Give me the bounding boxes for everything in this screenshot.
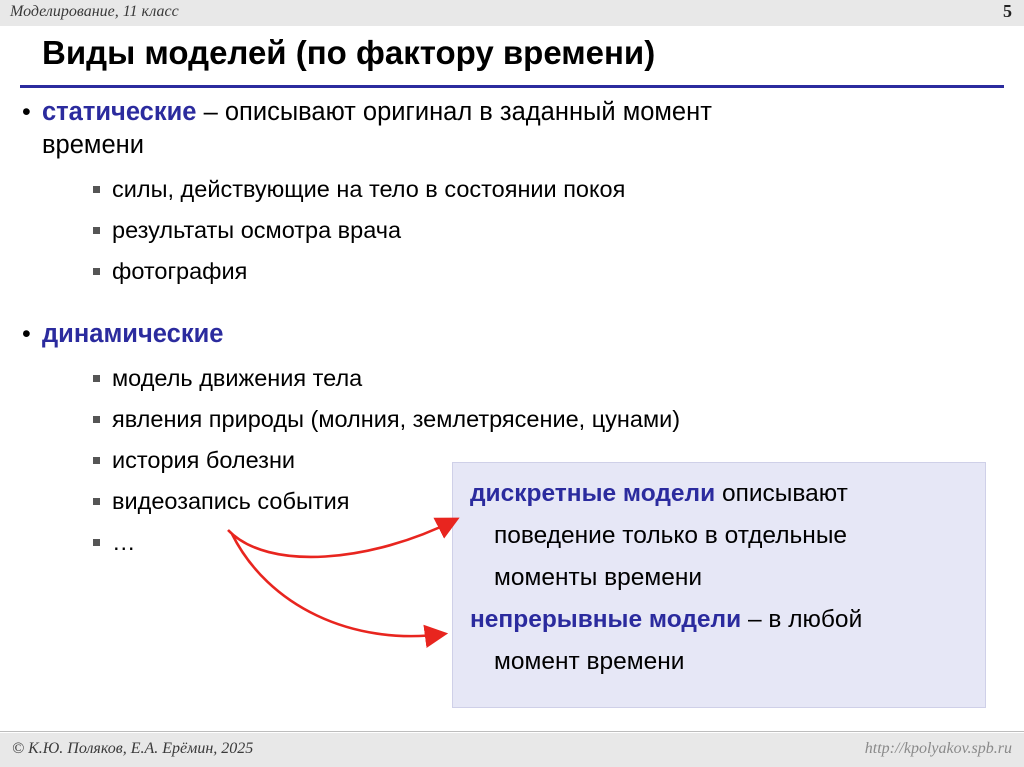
discrete-line-3: моменты времени [470,557,982,599]
list-item: явления природы (молния, землетрясение, … [0,399,1024,440]
callout-text: дискретные модели описывают поведение то… [470,473,982,683]
list-item-dynamic: • динамические [0,318,1024,351]
dynamic-sub-item-5: … [112,529,136,555]
spacer [0,292,1024,318]
square-bullet-icon [93,498,100,505]
dynamic-keyword: динамические [42,320,223,348]
continuous-line-1: непрерывные модели – в любой [470,599,982,641]
site-url[interactable]: http://kpolyakov.spb.ru [865,740,1012,758]
static-sub-item-2: результаты осмотра врача [112,217,401,243]
continuous-keyword: непрерывные модели [470,606,741,633]
list-item: фотография [0,251,1024,292]
square-bullet-icon [93,539,100,546]
discrete-line-2: поведение только в отдельные [470,515,982,557]
square-bullet-icon [93,416,100,423]
square-bullet-icon [93,375,100,382]
continuous-rest: – в любой [741,606,862,633]
bullet-icon: • [22,318,31,351]
discrete-line-1: дискретные модели описывают [470,473,982,515]
copyright-label: © К.Ю. Поляков, Е.А. Ерёмин, 2025 [12,740,253,758]
title-divider [20,85,1004,88]
dynamic-sub-item-2: явления природы (молния, землетрясение, … [112,406,680,432]
slide-header: Моделирование, 11 класс 5 [0,0,1024,26]
discrete-keyword: дискретные модели [470,480,715,507]
static-sub-item-3: фотография [112,258,247,284]
square-bullet-icon [93,457,100,464]
list-item: модель движения тела [0,358,1024,399]
list-item: силы, действующие на тело в состоянии по… [0,169,1024,210]
discrete-rest: описывают [715,480,848,507]
spacer [0,162,1024,169]
square-bullet-icon [93,227,100,234]
callout-box: дискретные модели описывают поведение то… [452,462,986,708]
continuous-line-2: момент времени [470,641,982,683]
static-rest-line1: – описывают оригинал в заданный момент [196,98,711,126]
dynamic-sub-item-1: модель движения тела [112,365,362,391]
bullet-icon: • [22,96,31,129]
slide-number: 5 [1003,1,1012,22]
list-item: результаты осмотра врача [0,210,1024,251]
dynamic-sub-item-4: видеозапись события [112,488,349,514]
slide-footer: © К.Ю. Поляков, Е.А. Ерёмин, 2025 http:/… [0,733,1024,767]
static-rest-line2: времени [42,131,144,159]
static-keyword: статические [42,98,196,126]
list-item-static-cont: времени [0,129,1024,162]
dynamic-sub-item-3: история болезни [112,447,295,473]
static-sub-item-1: силы, действующие на тело в состоянии по… [112,176,625,202]
page-title: Виды моделей (по фактору времени) [42,34,655,72]
square-bullet-icon [93,186,100,193]
list-item-static: • статические – описывают оригинал в зад… [0,96,1024,129]
spacer [0,351,1024,358]
course-label: Моделирование, 11 класс [10,3,179,21]
footer-divider [0,731,1024,732]
slide: Моделирование, 11 класс 5 Виды моделей (… [0,0,1024,767]
square-bullet-icon [93,268,100,275]
